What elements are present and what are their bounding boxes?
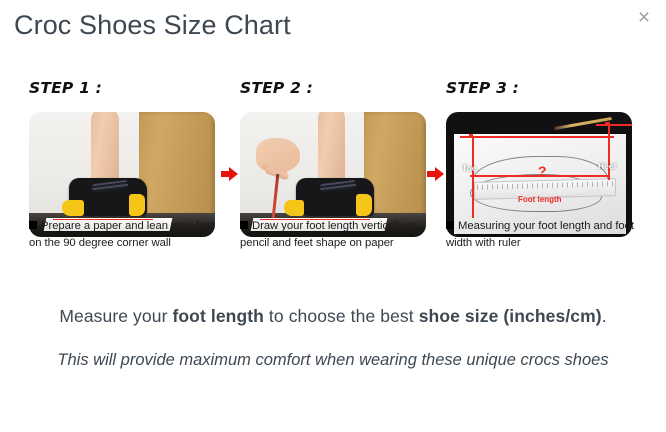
step-3-caption-text: Measuring your foot length and foot widt…	[446, 220, 634, 249]
arrow-head	[435, 167, 444, 181]
close-icon[interactable]: ×	[630, 4, 658, 32]
step-1-caption-text: Prepare a paper and lean your feet on th…	[29, 220, 215, 249]
steps-strip: STEP 1 : Prepare a paper and lean your f…	[0, 78, 666, 293]
sock-heel-patch	[356, 194, 372, 216]
bullet-square-icon	[240, 221, 248, 229]
toe-label: Toe	[462, 164, 476, 173]
measure-part-3: .	[602, 306, 607, 326]
sock-toe-patch	[62, 200, 84, 216]
red-heel-guide	[608, 122, 610, 180]
measure-bold-shoe-size: shoe size (inches/cm)	[419, 306, 602, 326]
cardboard-box	[139, 112, 215, 215]
sock-heel-patch	[129, 194, 145, 216]
step-2-heading: STEP 2 :	[240, 78, 436, 104]
step-3-heading: STEP 3 :	[446, 78, 642, 104]
step-1: STEP 1 : Prepare a paper and lean your f…	[29, 78, 225, 293]
leg	[318, 112, 345, 182]
step-2: STEP 2 : Draw your foot length verticall…	[240, 78, 436, 293]
foot-length-label: Foot length	[518, 196, 562, 204]
red-corner-marker	[605, 122, 609, 126]
red-top-guide	[460, 136, 614, 138]
sock-toe-patch	[284, 200, 304, 216]
red-toe-guide	[472, 136, 474, 218]
step-2-caption: Draw your foot length vertically in penc…	[240, 218, 432, 252]
question-mark-label: ?	[538, 164, 547, 178]
measure-bold-foot-length: foot length	[172, 306, 264, 326]
step-1-heading: STEP 1 :	[29, 78, 225, 104]
step-3-caption: Measuring your foot length and foot widt…	[446, 218, 638, 252]
measure-instruction: Measure your foot length to choose the b…	[0, 306, 666, 327]
bullet-square-icon	[446, 221, 454, 229]
ruler-ticks	[477, 181, 613, 190]
comfort-note: This will provide maximum comfort when w…	[33, 346, 633, 375]
size-chart-modal: { "modal": { "title": "Croc Shoes Size C…	[0, 0, 666, 432]
measure-part-1: Measure your	[59, 306, 172, 326]
page-title: Croc Shoes Size Chart	[14, 10, 291, 41]
bullet-square-icon	[29, 221, 37, 229]
heel-label: Heel	[598, 162, 616, 171]
red-corner-guide	[596, 124, 632, 126]
leg	[91, 112, 119, 186]
arrow-head	[229, 167, 238, 181]
step-3: STEP 3 : Toe Heel ? Foot length Measurin…	[446, 78, 642, 293]
measure-part-2: to choose the best	[264, 306, 419, 326]
red-corner-marker	[469, 134, 473, 138]
step-1-caption: Prepare a paper and lean your feet on th…	[29, 218, 221, 252]
step-2-caption-text: Draw your foot length vertically in penc…	[240, 220, 417, 249]
